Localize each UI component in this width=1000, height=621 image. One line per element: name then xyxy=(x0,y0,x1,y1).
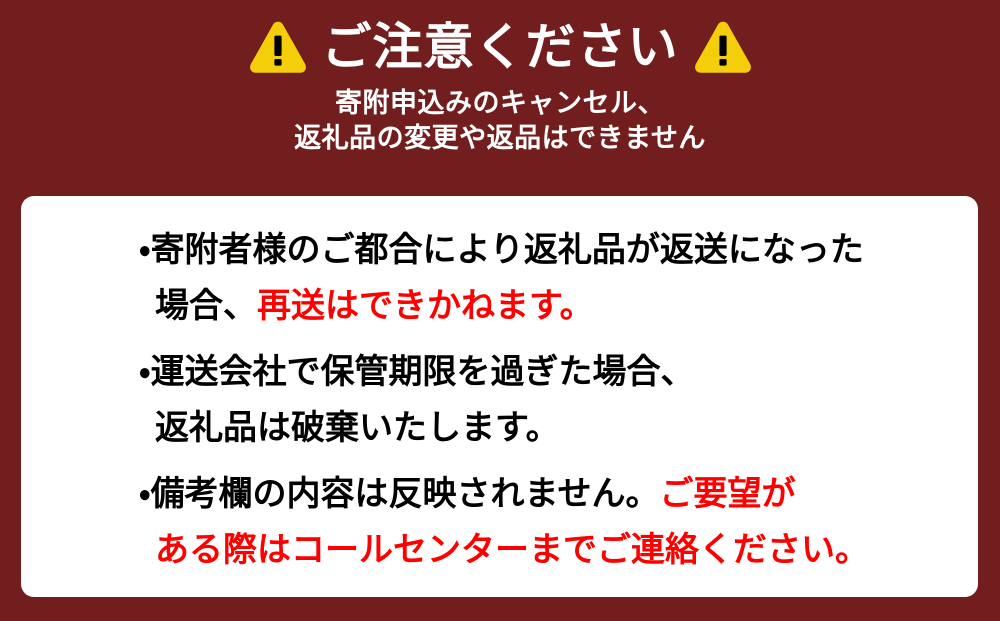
bullet-marker: ・ xyxy=(139,353,151,391)
notice-1-line-2-red: 再送はできかねます。 xyxy=(257,287,594,325)
notice-3-line-1-black: 備考欄の内容は反映されません。 xyxy=(151,475,660,513)
bullet-marker: ・ xyxy=(139,231,151,269)
warning-notice-banner: ご注意ください 寄附申込みのキャンセル、 返礼品の変更や返品はできません ・寄附… xyxy=(0,0,1000,621)
list-item: ・備考欄の内容は反映されません。ご要望が ある際はコールセンターまでご連絡くださ… xyxy=(139,466,978,578)
notice-list: ・寄附者様のご都合により返礼品が返送になった 場合、再送はできかねます。 ・運送… xyxy=(21,222,978,578)
notice-2-line-1: ・運送会社で保管期限を過ぎた場合、 xyxy=(139,344,978,400)
bullet-marker: ・ xyxy=(139,475,151,513)
list-item: ・寄附者様のご都合により返礼品が返送になった 場合、再送はできかねます。 xyxy=(139,222,978,334)
notice-3-line-2-red: ある際はコールセンターまでご連絡ください。 xyxy=(155,531,869,569)
notice-3-line-2: ある際はコールセンターまでご連絡ください。 xyxy=(139,522,978,578)
banner-header: ご注意ください 寄附申込みのキャンセル、 返礼品の変更や返品はできません xyxy=(0,0,1000,156)
notice-1-line-1: ・寄附者様のご都合により返礼品が返送になった xyxy=(139,222,978,278)
notice-1-line-2-black: 場合、 xyxy=(155,287,257,325)
title-row: ご注意ください xyxy=(248,14,753,80)
list-item: ・運送会社で保管期限を過ぎた場合、 返礼品は破棄いたします。 xyxy=(139,344,978,456)
warning-triangle-icon xyxy=(693,17,753,77)
warning-triangle-icon xyxy=(248,17,308,77)
banner-subtitle-line-2: 返礼品の変更や返品はできません xyxy=(294,121,706,156)
notice-3-line-1-red: ご要望が xyxy=(660,475,796,513)
notice-1-line-2: 場合、再送はできかねます。 xyxy=(139,278,978,334)
page-title: ご注意ください xyxy=(322,22,679,72)
notice-3-line-1: ・備考欄の内容は反映されません。ご要望が xyxy=(139,466,978,522)
notice-card: ・寄附者様のご都合により返礼品が返送になった 場合、再送はできかねます。 ・運送… xyxy=(21,196,978,597)
notice-1-line-1-text: 寄附者様のご都合により返礼品が返送になった xyxy=(151,231,864,269)
notice-2-line-1-text: 運送会社で保管期限を過ぎた場合、 xyxy=(151,353,695,391)
notice-2-line-2: 返礼品は破棄いたします。 xyxy=(139,400,978,456)
notice-2-line-2-black: 返礼品は破棄いたします。 xyxy=(155,409,560,447)
banner-subtitle-line-1: 寄附申込みのキャンセル、 xyxy=(335,86,665,121)
